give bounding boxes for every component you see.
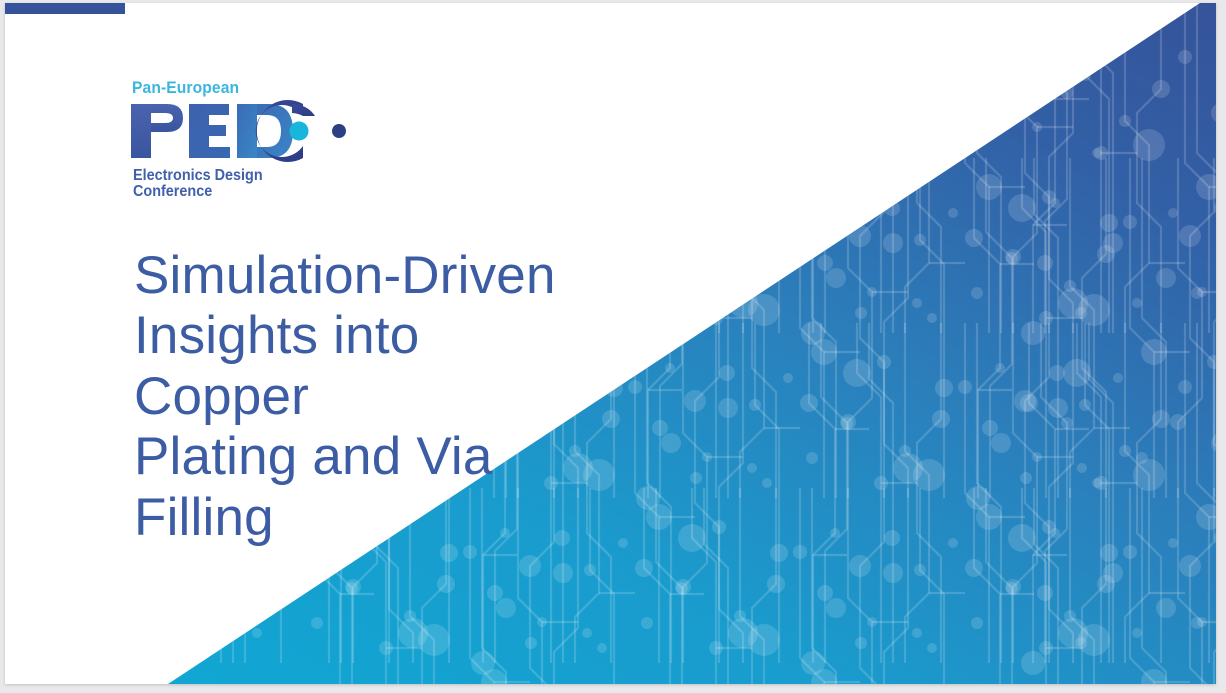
pedc-wordmark-icon (129, 100, 347, 162)
accent-bar (5, 3, 125, 14)
page-title: Simulation-Driven Insights into Copper P… (134, 246, 604, 548)
slide-canvas: Pan-European (0, 0, 1226, 693)
logo-tagline-bottom: Electronics Design Conference (133, 168, 338, 200)
presentation-slide: Pan-European (5, 3, 1216, 684)
pedc-logo: Pan-European (131, 79, 361, 200)
logo-tagline-top: Pan-European (132, 79, 343, 96)
